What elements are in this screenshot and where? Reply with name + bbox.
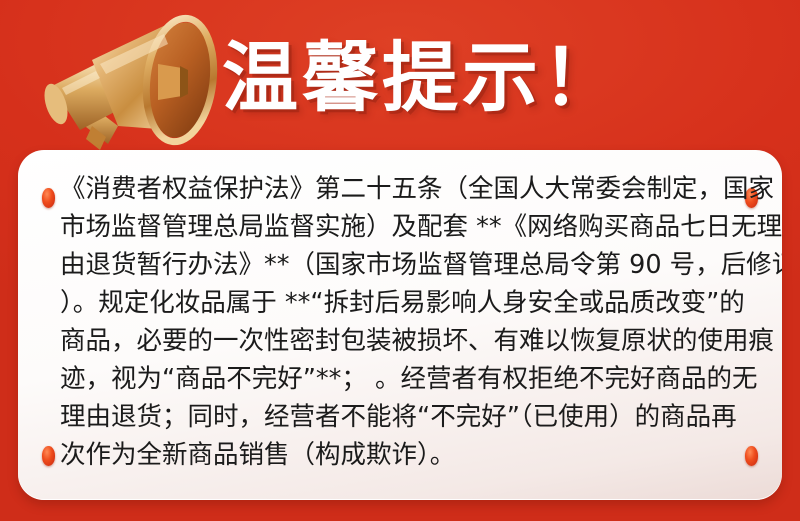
notice-line: 理由退货；同时，经营者不能将“不完好”（已使用）的商品再 bbox=[60, 398, 746, 436]
notice-line: 商品，必要的一次性密封包装被损坏、有难以恢复原状的使用痕 bbox=[60, 322, 746, 360]
page-title: 温馨提示！ bbox=[222, 26, 642, 130]
megaphone-icon bbox=[22, 8, 222, 158]
warm-reminder-poster: 温馨提示！ 《消费者权益保护法》第二十五条（全国人大常委会制定，国家 市场监督管… bbox=[0, 0, 800, 521]
notice-line: 《消费者权益保护法》第二十五条（全国人大常委会制定，国家 bbox=[60, 170, 746, 208]
decor-dot-bottom-right-icon bbox=[745, 446, 758, 466]
notice-line: 次作为全新商品销售（构成欺诈）。 bbox=[60, 436, 746, 474]
poster-header: 温馨提示！ bbox=[0, 0, 800, 150]
notice-card: 《消费者权益保护法》第二十五条（全国人大常委会制定，国家 市场监督管理总局监督实… bbox=[18, 150, 782, 500]
notice-line: 由退货暂行办法》**（国家市场监督管理总局令第 90 号，后修订 bbox=[60, 246, 746, 284]
notice-text-block: 《消费者权益保护法》第二十五条（全国人大常委会制定，国家 市场监督管理总局监督实… bbox=[60, 170, 746, 474]
notice-line: ）。规定化妆品属于 **“拆封后易影响人身安全或品质改变”的 bbox=[60, 284, 746, 322]
decor-dot-bottom-left-icon bbox=[42, 446, 55, 466]
notice-line: 市场监督管理总局监督实施）及配套 **《网络购买商品七日无理 bbox=[60, 208, 746, 246]
decor-dot-top-left-icon bbox=[42, 188, 55, 208]
notice-line: 迹，视为“商品不完好”**； 。经营者有权拒绝不完好商品的无 bbox=[60, 360, 746, 398]
